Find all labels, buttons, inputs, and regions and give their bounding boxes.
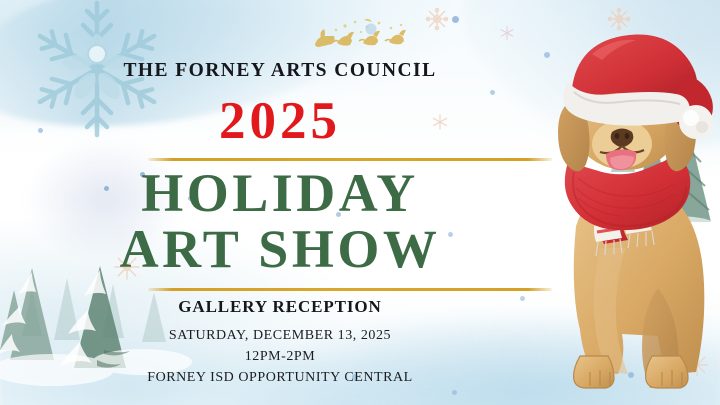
event-time: 12PM-2PM [0,349,560,365]
reception-heading: GALLERY RECEPTION [0,297,560,317]
mini-snowflake-icon [588,340,612,369]
divider-bottom [148,288,552,291]
divider-top [148,158,552,161]
dog-with-santa-hat-illustration [534,26,720,405]
decorative-dot [628,372,634,378]
organization-name: THE FORNEY ARTS COUNCIL [0,60,560,82]
poster-text-block: THE FORNEY ARTS COUNCIL 2025 HOLIDAY ART… [0,0,560,405]
event-date: SATURDAY, DECEMBER 13, 2025 [0,328,560,344]
event-venue: FORNEY ISD OPPORTUNITY CENTRAL [0,370,560,386]
mini-snowflake-icon [606,6,632,37]
year-heading: 2025 [0,95,560,148]
holiday-art-show-poster: THE FORNEY ARTS COUNCIL 2025 HOLIDAY ART… [0,0,720,405]
mini-snowflake-icon [684,352,710,383]
page-title-line-2: ART SHOW [0,222,560,276]
page-title-line-1: HOLIDAY [0,166,560,220]
pine-trees-icon [581,52,716,242]
